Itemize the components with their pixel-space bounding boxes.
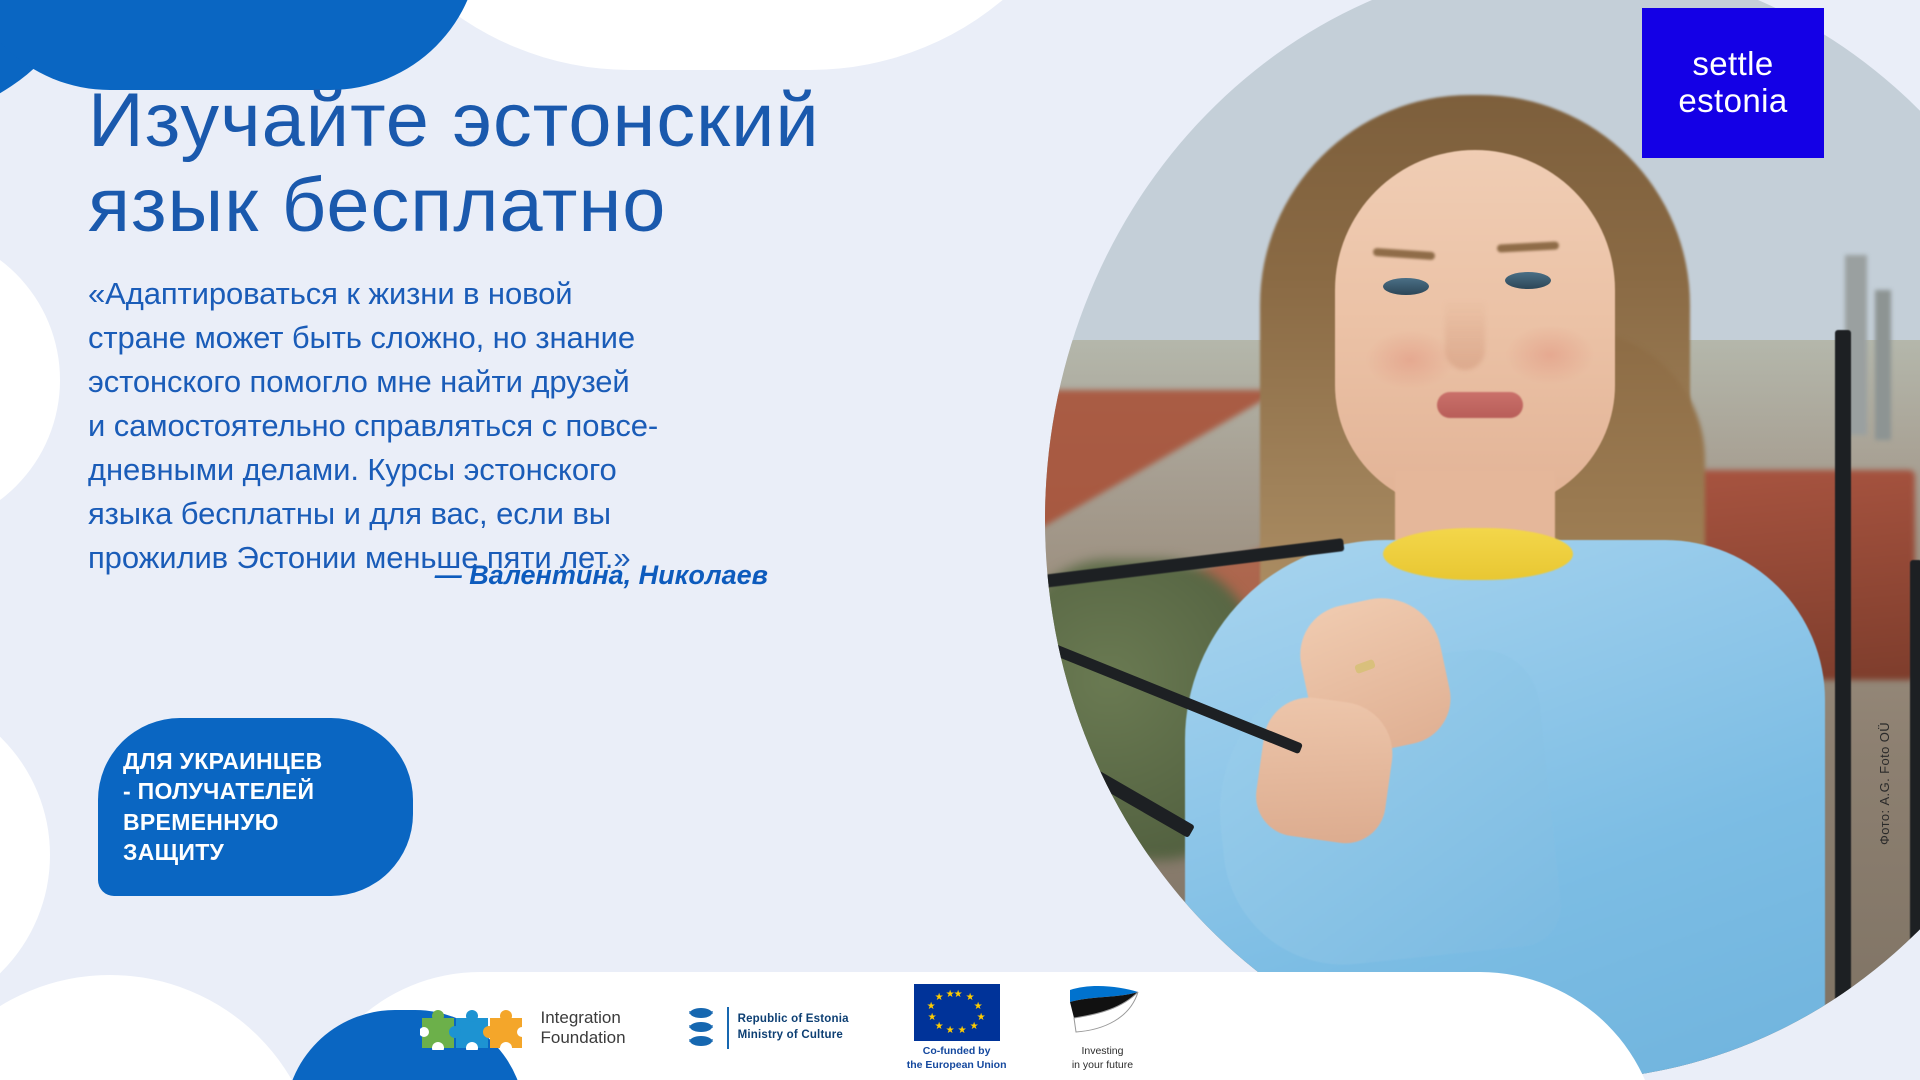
photo-nose [1445,300,1485,370]
divider [727,1007,729,1049]
eu-caption: Co-funded by the European Union [907,1045,1007,1071]
integration-foundation-label: Integration Foundation [541,1008,626,1047]
european-union-logo: ★ ★ ★ ★ ★ ★ ★ ★ ★ ★ ★ ★ Co-funded by the… [907,984,1007,1071]
photo-cheek-right [1505,325,1595,385]
testimonial-attribution: — Валентина, Николаев [88,560,768,591]
footer-logos: Integration Foundation Republic of Eston… [0,988,1560,1068]
settle-estonia-logo-line1: settle [1692,46,1773,83]
estonia-coat-of-arms-icon [684,1005,718,1051]
investing-caption: Investing in your future [1072,1045,1133,1071]
banner-canvas: Изучайте эстонский язык бесплатно «Адапт… [0,0,1920,1080]
photo-lips [1437,392,1523,418]
photo-cheek-left [1365,330,1455,390]
settle-estonia-logo-line2: estonia [1678,83,1787,120]
photo-eye-left [1383,278,1429,295]
page-title: Изучайте эстонский язык бесплатно [88,78,986,248]
testimonial-quote: «Адаптироваться к жизни в новой стране м… [88,272,788,580]
settle-estonia-logo[interactable]: settle estonia [1642,8,1824,158]
ministry-of-culture-logo: Republic of Estonia Ministry of Culture [684,1005,849,1051]
photo-railing-post [1835,330,1851,1080]
estonian-flag-wave-icon [1064,984,1140,1041]
photo-collar [1383,528,1573,580]
puzzle-icon [420,1006,532,1050]
ministry-line-2: Ministry of Culture [738,1028,849,1044]
eu-flag-icon: ★ ★ ★ ★ ★ ★ ★ ★ ★ ★ ★ ★ [914,984,1000,1041]
ministry-line-1: Republic of Estonia [738,1012,849,1028]
target-audience-badge-label: ДЛЯ УКРАИНЦЕВ - ПОЛУЧАТЕЛЕЙ ВРЕМЕННУЮ ЗА… [123,746,393,867]
photo-tower-2 [1875,290,1891,440]
investing-in-your-future-logo: Investing in your future [1064,984,1140,1071]
photo-credit: Фото: A.G. Foto OÜ [1877,722,1892,845]
photo-eye-right [1505,272,1551,289]
target-audience-badge: ДЛЯ УКРАИНЦЕВ - ПОЛУЧАТЕЛЕЙ ВРЕМЕННУЮ ЗА… [98,718,413,896]
ministry-of-culture-label: Republic of Estonia Ministry of Culture [738,1012,849,1043]
integration-foundation-logo: Integration Foundation [420,1006,626,1050]
